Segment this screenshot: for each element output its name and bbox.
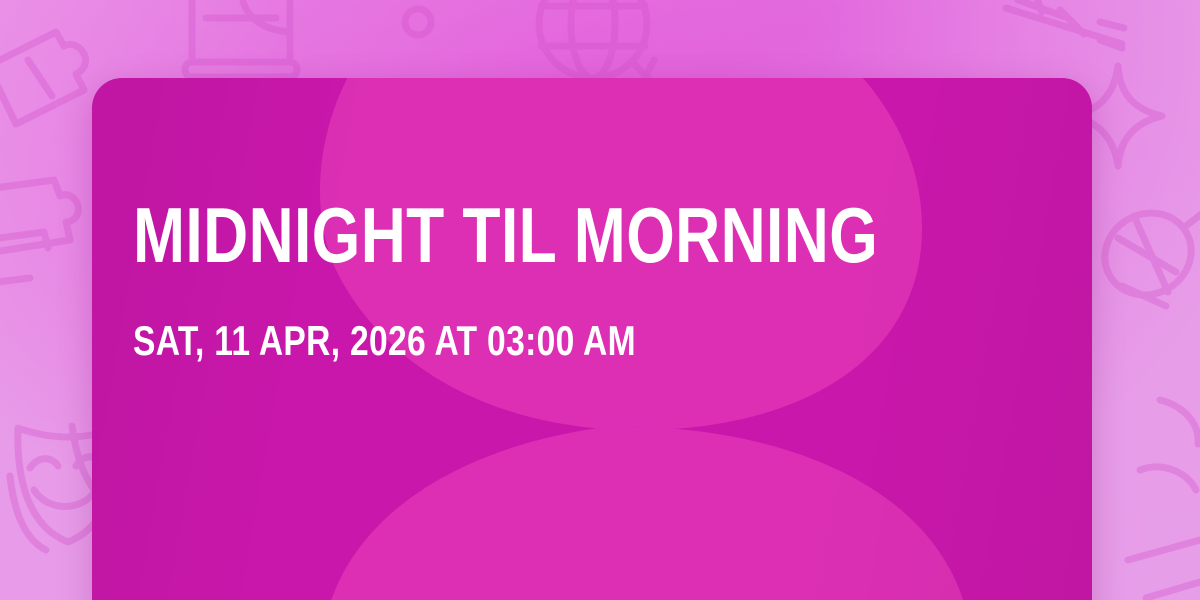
confetti-icon xyxy=(1006,0,1124,48)
circle-icon xyxy=(1140,400,1198,490)
event-date: Sat, 11 Apr, 2026 at 03:00 AM xyxy=(133,320,853,362)
event-details: Midnight Til Morning Sat, 11 Apr, 2026 a… xyxy=(133,198,1033,362)
event-card[interactable]: Midnight Til Morning Sat, 11 Apr, 2026 a… xyxy=(92,78,1092,600)
ticket-icon xyxy=(0,32,86,124)
ticket-icon xyxy=(1128,540,1200,598)
event-title: Midnight Til Morning xyxy=(133,198,853,272)
laptop-icon xyxy=(185,2,297,77)
circle-icon xyxy=(405,9,431,35)
event-banner: Midnight Til Morning Sat, 11 Apr, 2026 a… xyxy=(0,0,1200,600)
microphone-icon xyxy=(1090,198,1200,310)
ticket-icon xyxy=(0,180,78,286)
